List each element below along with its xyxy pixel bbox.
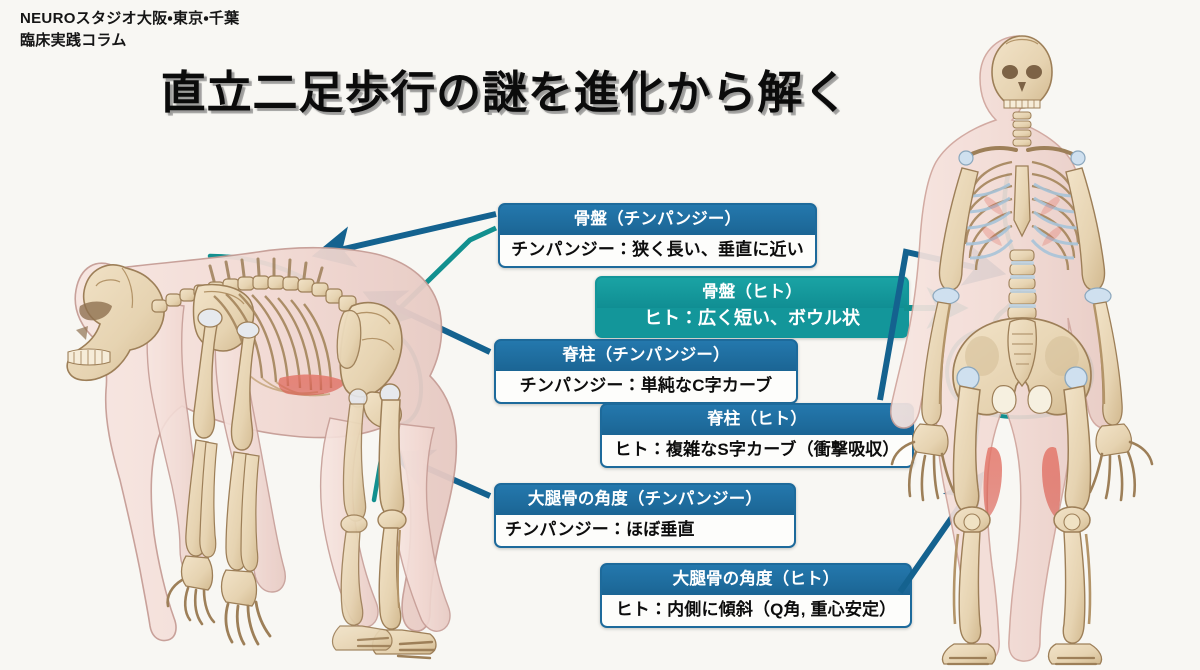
slide-canvas: NEUROスタジオ大阪・東京・千葉 臨床実践コラム 直立二足歩行の謎を進化から解… [0,0,1200,670]
skeleton-artwork [0,0,1200,670]
human-skeleton-figure [891,36,1152,664]
chimpanzee-skeleton-figure [67,248,456,658]
